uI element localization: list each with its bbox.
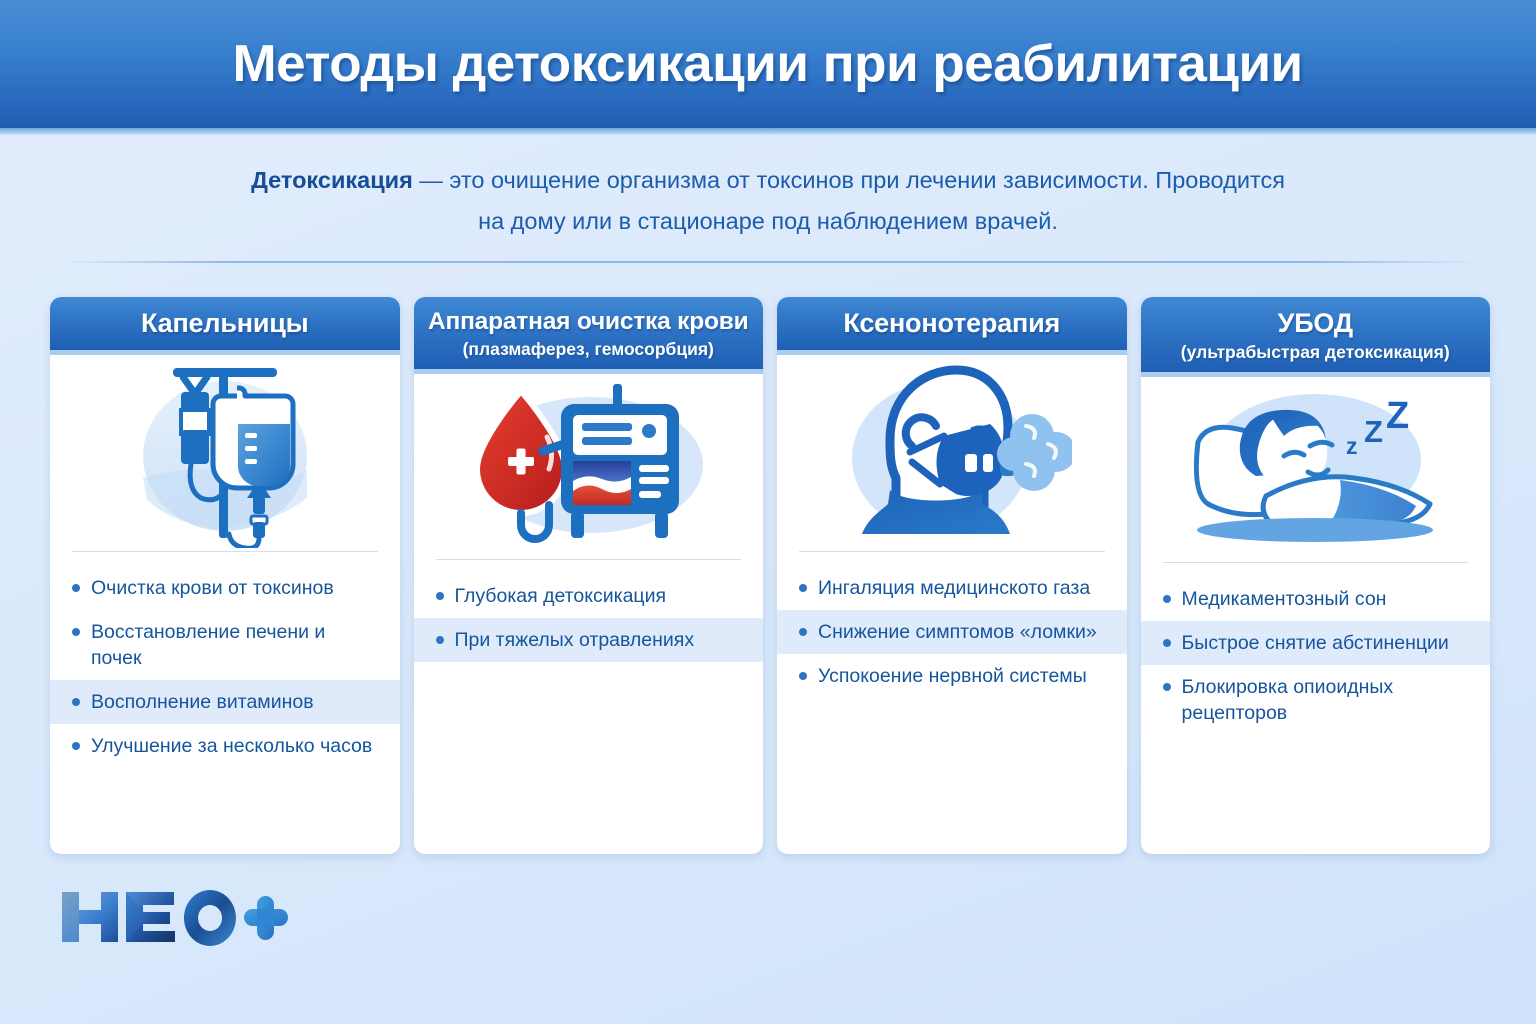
card-benefit-list: Ингаляция медицинското газа Снижение сим… — [777, 552, 1127, 854]
list-item[interactable]: Улучшение за несколько часов — [50, 724, 400, 768]
method-card-kapelnitsy[interactable]: Капельницы — [50, 297, 400, 854]
list-item[interactable]: Очистка крови от токсинов — [50, 566, 400, 610]
list-item-label: Глубокая детоксикация — [455, 583, 667, 609]
card-benefit-list: Очистка крови от токсинов Восстановление… — [50, 552, 400, 854]
card-title: Ксенонотерапия — [787, 308, 1117, 340]
card-title: Аппаратная очистка крови — [424, 308, 754, 337]
oxygen-mask-icon — [832, 358, 1072, 548]
card-header: Аппаратная очистка крови (плазмаферез, г… — [414, 297, 764, 374]
bullet-dot-icon — [72, 584, 80, 592]
bullet-dot-icon — [799, 628, 807, 636]
list-item[interactable]: Быстрое снятие абстиненции — [1141, 621, 1491, 665]
bullet-dot-icon — [72, 742, 80, 750]
method-cards-row: Капельницы — [50, 297, 1490, 854]
blood-purification-icon — [463, 379, 713, 554]
card-icon-area — [50, 355, 400, 551]
list-item[interactable]: Восполнение витаминов — [50, 680, 400, 724]
bullet-dot-icon — [799, 672, 807, 680]
card-subtitle: (ультрабыстрая детоксикация) — [1151, 342, 1481, 363]
bullet-dot-icon — [72, 698, 80, 706]
list-item-label: Блокировка опиоидных рецепторов — [1182, 674, 1471, 726]
svg-text:z: z — [1346, 433, 1358, 459]
list-item[interactable]: Восстановление печени и почек — [50, 610, 400, 680]
card-icon-area — [777, 355, 1127, 551]
list-item[interactable]: При тяжелых отравлениях — [414, 618, 764, 662]
list-item-label: Снижение симптомов «ломки» — [818, 619, 1097, 645]
method-card-apparatnaya-ochistka[interactable]: Аппаратная очистка крови (плазмаферез, г… — [414, 297, 764, 854]
card-subtitle: (плазмаферез, гемосорбция) — [424, 339, 754, 360]
svg-text:Z: Z — [1386, 395, 1409, 437]
sleeping-patient-icon: z Z Z — [1180, 384, 1450, 554]
card-header: Ксенонотерапия — [777, 297, 1127, 355]
method-card-ksenonoterapiya[interactable]: Ксенонотерапия — [777, 297, 1127, 854]
card-title: УБОД — [1151, 308, 1481, 340]
bullet-dot-icon — [72, 628, 80, 636]
intro-divider — [58, 261, 1478, 263]
card-benefit-list: Глубокая детоксикация При тяжелых отравл… — [414, 560, 764, 854]
bullet-dot-icon — [799, 584, 807, 592]
method-card-ubod[interactable]: УБОД (ультрабыстрая детоксикация) — [1141, 297, 1491, 854]
page-title: Методы детоксикации при реабилитации — [233, 34, 1303, 94]
bullet-dot-icon — [1163, 595, 1171, 603]
bullet-dot-icon — [436, 592, 444, 600]
list-item-label: Восстановление печени и почек — [91, 619, 380, 671]
list-item[interactable]: Глубокая детоксикация — [414, 574, 764, 618]
list-item-label: Медикаментозный сон — [1182, 586, 1387, 612]
svg-text:Z: Z — [1364, 414, 1383, 449]
intro-lead-word: Детоксикация — [251, 167, 413, 193]
list-item-label: Очистка крови от токсинов — [91, 575, 334, 601]
bullet-dot-icon — [436, 636, 444, 644]
neo-plus-logo[interactable] — [58, 886, 288, 948]
iv-drip-icon — [125, 358, 325, 548]
list-item-label: Ингаляция медицинското газа — [818, 575, 1090, 601]
list-item-label: Улучшение за несколько часов — [91, 733, 372, 759]
card-icon-area — [414, 374, 764, 559]
card-header: Капельницы — [50, 297, 400, 355]
list-item-label: Восполнение витаминов — [91, 689, 314, 715]
intro-paragraph: Детоксикация — это очищение организма от… — [190, 160, 1346, 242]
card-icon-area: z Z Z — [1141, 377, 1491, 562]
bullet-dot-icon — [1163, 683, 1171, 691]
page-header-band: Методы детоксикации при реабилитации — [0, 0, 1536, 128]
list-item[interactable]: Медикаментозный сон — [1141, 577, 1491, 621]
card-title: Капельницы — [60, 308, 390, 340]
card-benefit-list: Медикаментозный сон Быстрое снятие абсти… — [1141, 563, 1491, 854]
list-item[interactable]: Успокоение нервной системы — [777, 654, 1127, 698]
bullet-dot-icon — [1163, 639, 1171, 647]
neo-plus-logo-mark — [58, 886, 288, 948]
list-item-label: При тяжелых отравлениях — [455, 627, 695, 653]
intro-line-1: — это очищение организма от токсинов при… — [413, 167, 1285, 193]
list-item[interactable]: Ингаляция медицинското газа — [777, 566, 1127, 610]
list-item-label: Быстрое снятие абстиненции — [1182, 630, 1449, 656]
list-item-label: Успокоение нервной системы — [818, 663, 1087, 689]
card-header: УБОД (ультрабыстрая детоксикация) — [1141, 297, 1491, 377]
list-item[interactable]: Блокировка опиоидных рецепторов — [1141, 665, 1491, 735]
list-item[interactable]: Снижение симптомов «ломки» — [777, 610, 1127, 654]
intro-line-2: на дому или в стационаре под наблюдением… — [478, 208, 1058, 234]
